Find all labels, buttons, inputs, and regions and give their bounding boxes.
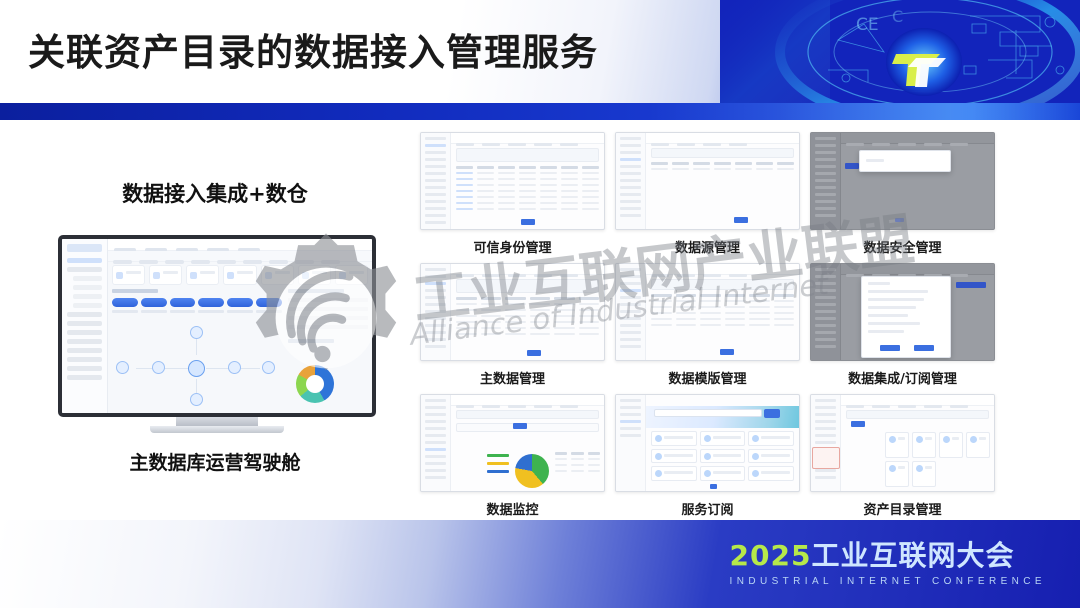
sidebar-item[interactable] bbox=[425, 338, 446, 341]
sidebar-item[interactable] bbox=[620, 434, 641, 437]
topbar-item[interactable] bbox=[898, 143, 916, 146]
sidebar-item[interactable] bbox=[425, 275, 446, 278]
sidebar-item[interactable] bbox=[620, 268, 641, 271]
app-topbar[interactable] bbox=[841, 395, 994, 406]
service-card[interactable] bbox=[748, 466, 794, 481]
sidebar-item[interactable] bbox=[425, 427, 446, 430]
sidebar-item[interactable] bbox=[425, 399, 446, 402]
sidebar-item[interactable] bbox=[67, 339, 102, 344]
stage-pill[interactable] bbox=[256, 298, 282, 307]
sidebar-item[interactable] bbox=[815, 179, 836, 182]
dashboard-stat-cards bbox=[112, 265, 368, 285]
table-header bbox=[651, 162, 794, 165]
sidebar-item[interactable] bbox=[620, 324, 641, 327]
app-sidebar[interactable] bbox=[811, 133, 841, 229]
table-row[interactable] bbox=[456, 196, 599, 198]
sidebar-item[interactable] bbox=[815, 338, 836, 341]
sidebar-item[interactable] bbox=[620, 179, 641, 182]
primary-action-button[interactable] bbox=[845, 163, 859, 169]
table-row[interactable] bbox=[651, 324, 794, 326]
dashboard-topnav[interactable] bbox=[108, 239, 372, 251]
screenshot-thumb-data-monitor[interactable] bbox=[420, 394, 605, 492]
sidebar-item[interactable] bbox=[620, 317, 641, 320]
connector-line bbox=[196, 339, 197, 355]
svg-text:CE: CE bbox=[856, 15, 879, 35]
dashboard-flow-panel bbox=[112, 289, 282, 409]
sidebar-subitem[interactable] bbox=[73, 294, 102, 299]
screenshot-thumb-data-security[interactable] bbox=[810, 132, 995, 230]
sidebar-item[interactable] bbox=[815, 296, 836, 299]
header-divider-shine bbox=[0, 103, 1080, 120]
sidebar-item[interactable] bbox=[425, 158, 446, 161]
app-content bbox=[451, 144, 604, 229]
sidebar-item[interactable] bbox=[67, 357, 102, 362]
sidebar-item[interactable] bbox=[815, 289, 836, 292]
panel-title bbox=[288, 289, 344, 293]
pill-label bbox=[112, 310, 138, 313]
filter-bar[interactable] bbox=[456, 148, 599, 162]
sidebar-item[interactable] bbox=[620, 172, 641, 175]
sidebar-item[interactable] bbox=[67, 348, 102, 353]
tab-item[interactable] bbox=[217, 260, 236, 264]
app-topbar[interactable] bbox=[451, 395, 604, 406]
search-input[interactable] bbox=[654, 409, 762, 417]
stat-card[interactable] bbox=[335, 265, 368, 285]
sidebar-item[interactable] bbox=[815, 158, 836, 161]
tv-stand-neck bbox=[176, 417, 258, 426]
tab-item[interactable] bbox=[269, 260, 288, 264]
sidebar-item[interactable] bbox=[425, 172, 446, 175]
app-sidebar[interactable] bbox=[421, 133, 451, 229]
sidebar-item[interactable] bbox=[425, 289, 446, 292]
tech-graphic: CE C bbox=[720, 0, 1080, 103]
tv-frame bbox=[58, 235, 376, 417]
sidebar-item[interactable] bbox=[425, 406, 446, 409]
pie-chart bbox=[515, 454, 549, 488]
table-row[interactable] bbox=[456, 309, 599, 311]
slide-root: 关联资产目录的数据接入管理服务 bbox=[0, 0, 1080, 608]
primary-action-button[interactable] bbox=[851, 421, 865, 427]
table-row[interactable] bbox=[651, 318, 794, 320]
app-sidebar[interactable] bbox=[616, 395, 646, 491]
table-header bbox=[651, 294, 794, 297]
search-button[interactable] bbox=[764, 409, 780, 418]
table-row[interactable] bbox=[456, 327, 599, 329]
thumb-caption: 服务订阅 bbox=[615, 499, 800, 518]
diagram-node[interactable] bbox=[190, 326, 203, 339]
stage-pill[interactable] bbox=[198, 298, 224, 307]
service-card[interactable] bbox=[651, 466, 697, 481]
asset-card[interactable] bbox=[939, 432, 963, 458]
service-card[interactable] bbox=[748, 431, 794, 446]
sidebar-item[interactable] bbox=[815, 137, 836, 140]
sidebar-item[interactable] bbox=[620, 186, 641, 189]
toolbar[interactable] bbox=[456, 423, 599, 432]
sidebar-subitem[interactable] bbox=[73, 285, 102, 290]
sidebar-item[interactable] bbox=[815, 186, 836, 189]
panel-row bbox=[288, 325, 368, 329]
app-content bbox=[451, 406, 604, 491]
slide-body: 数据接入集成+数仓 bbox=[0, 120, 1080, 520]
sidebar-item[interactable] bbox=[425, 179, 446, 182]
asset-card[interactable] bbox=[966, 432, 990, 458]
sidebar-item[interactable] bbox=[67, 366, 102, 371]
table-row[interactable] bbox=[456, 208, 599, 210]
table-header bbox=[555, 452, 600, 455]
sidebar-item[interactable] bbox=[425, 441, 446, 444]
sidebar-item[interactable] bbox=[425, 221, 446, 224]
modal-dialog[interactable] bbox=[859, 150, 951, 172]
diagram-node-center[interactable] bbox=[188, 360, 205, 377]
table-row[interactable] bbox=[456, 172, 599, 174]
sidebar-item[interactable] bbox=[425, 324, 446, 327]
highlighted-tree-node[interactable] bbox=[812, 447, 840, 469]
service-card[interactable] bbox=[700, 466, 746, 481]
diagram-node[interactable] bbox=[262, 361, 275, 374]
sidebar-item[interactable] bbox=[620, 137, 641, 140]
diagram-node[interactable] bbox=[228, 361, 241, 374]
pagination-button[interactable] bbox=[710, 484, 717, 489]
sidebar-subitem[interactable] bbox=[73, 303, 102, 308]
tab-item[interactable] bbox=[295, 260, 314, 264]
topbar-item[interactable] bbox=[950, 274, 968, 277]
sidebar-item[interactable] bbox=[620, 331, 641, 334]
table-row[interactable] bbox=[456, 184, 599, 186]
table-row[interactable] bbox=[456, 190, 599, 192]
conference-logo-main: 2025工业互联网大会 bbox=[730, 542, 1046, 570]
table-row[interactable] bbox=[651, 306, 794, 308]
topbar-item[interactable] bbox=[924, 143, 942, 146]
table-row[interactable] bbox=[456, 178, 599, 180]
table-header bbox=[456, 166, 599, 169]
sidebar-item[interactable] bbox=[620, 207, 641, 210]
sidebar-item[interactable] bbox=[620, 151, 641, 154]
asset-card[interactable] bbox=[885, 432, 909, 458]
service-card-grid bbox=[651, 431, 794, 481]
app-topbar[interactable] bbox=[841, 133, 994, 144]
table-header bbox=[456, 297, 599, 300]
sidebar-item[interactable] bbox=[815, 214, 836, 217]
grid-cell: 主数据管理 bbox=[420, 263, 605, 387]
sidebar-item[interactable] bbox=[67, 330, 102, 335]
conference-name-cn: 工业互联网大会 bbox=[811, 539, 1014, 572]
tv-screen-dashboard bbox=[62, 239, 372, 413]
asset-card[interactable] bbox=[885, 461, 909, 487]
slide-footer: 2025工业互联网大会 INDUSTRIAL INTERNET CONFEREN… bbox=[0, 520, 1080, 608]
dashboard-right-panel bbox=[288, 289, 368, 409]
sidebar-item[interactable] bbox=[67, 258, 102, 263]
table-row[interactable] bbox=[456, 303, 599, 305]
sidebar-item[interactable] bbox=[425, 434, 446, 437]
table-row[interactable] bbox=[456, 333, 599, 335]
sidebar-item-active[interactable] bbox=[620, 420, 641, 423]
donut-chart bbox=[296, 365, 334, 403]
screenshot-thumb-datasource[interactable] bbox=[615, 132, 800, 230]
sidebar-item-active[interactable] bbox=[620, 289, 641, 292]
screenshot-thumb-data-integration[interactable] bbox=[810, 263, 995, 361]
filter-bar[interactable] bbox=[651, 279, 794, 290]
asset-card[interactable] bbox=[912, 432, 936, 458]
app-topbar[interactable] bbox=[451, 264, 604, 275]
filter-bar[interactable] bbox=[651, 148, 794, 158]
table-row[interactable] bbox=[555, 464, 600, 466]
grid-cell: 数据安全管理 bbox=[810, 132, 995, 256]
sidebar-item[interactable] bbox=[620, 275, 641, 278]
dashboard-logo bbox=[67, 244, 102, 252]
modal-cancel-button[interactable] bbox=[914, 345, 934, 351]
service-card[interactable] bbox=[651, 431, 697, 446]
sidebar-item[interactable] bbox=[815, 303, 836, 306]
sidebar-item[interactable] bbox=[425, 200, 446, 203]
sidebar-item[interactable] bbox=[815, 469, 836, 472]
panel-row bbox=[288, 316, 368, 320]
sidebar-item[interactable] bbox=[67, 375, 102, 380]
sidebar-item[interactable] bbox=[815, 476, 836, 479]
sidebar-subitem[interactable] bbox=[73, 276, 102, 281]
thumb-caption: 数据监控 bbox=[420, 499, 605, 518]
screenshot-thumb-master-data[interactable] bbox=[420, 263, 605, 361]
screenshot-thumb-service-subscription[interactable] bbox=[615, 394, 800, 492]
app-sidebar[interactable] bbox=[421, 264, 451, 360]
sidebar-item[interactable] bbox=[425, 193, 446, 196]
sidebar-item[interactable] bbox=[815, 345, 836, 348]
dashboard-sidebar[interactable] bbox=[62, 239, 108, 413]
sidebar-item[interactable] bbox=[815, 310, 836, 313]
app-sidebar[interactable] bbox=[616, 133, 646, 229]
sidebar-item[interactable] bbox=[620, 345, 641, 348]
topbar-item[interactable] bbox=[846, 143, 864, 146]
sidebar-item[interactable] bbox=[815, 268, 836, 271]
sidebar-item[interactable] bbox=[815, 406, 836, 409]
app-sidebar[interactable] bbox=[811, 395, 841, 491]
sidebar-item[interactable] bbox=[815, 200, 836, 203]
filter-bar[interactable] bbox=[456, 410, 599, 419]
sidebar-item[interactable] bbox=[425, 186, 446, 189]
table-row[interactable] bbox=[456, 202, 599, 204]
grid-cell: 可信身份管理 bbox=[420, 132, 605, 256]
sidebar-item[interactable] bbox=[620, 296, 641, 299]
tv-stand-base bbox=[150, 426, 284, 433]
pagination-button[interactable] bbox=[895, 218, 904, 222]
left-panel-caption: 主数据库运营驾驶舱 bbox=[20, 448, 410, 475]
sidebar-item[interactable] bbox=[425, 420, 446, 423]
stat-card[interactable] bbox=[261, 265, 294, 285]
screenshot-thumb-asset-catalog[interactable] bbox=[810, 394, 995, 492]
sidebar-item[interactable] bbox=[425, 331, 446, 334]
sidebar-item[interactable] bbox=[425, 303, 446, 306]
modal-confirm-button[interactable] bbox=[880, 345, 900, 351]
sidebar-item[interactable] bbox=[620, 303, 641, 306]
grid-cell: 数据集成/订阅管理 bbox=[810, 263, 995, 387]
tab-item[interactable] bbox=[139, 260, 158, 264]
sidebar-item[interactable] bbox=[425, 455, 446, 458]
stat-card[interactable] bbox=[149, 265, 182, 285]
table-row[interactable] bbox=[651, 312, 794, 314]
toolbar-button[interactable] bbox=[956, 282, 986, 288]
table-row[interactable] bbox=[651, 300, 794, 302]
sidebar-item[interactable] bbox=[425, 345, 446, 348]
diagram-node[interactable] bbox=[190, 393, 203, 406]
sidebar-item[interactable] bbox=[815, 427, 836, 430]
topbar-item[interactable] bbox=[872, 143, 890, 146]
sidebar-item[interactable] bbox=[425, 268, 446, 271]
service-card[interactable] bbox=[700, 449, 746, 464]
legend-item bbox=[487, 462, 509, 465]
sidebar-item[interactable] bbox=[620, 144, 641, 147]
sidebar-item[interactable] bbox=[425, 151, 446, 154]
sidebar-item[interactable] bbox=[815, 165, 836, 168]
stat-card[interactable] bbox=[223, 265, 256, 285]
sidebar-item[interactable] bbox=[67, 267, 102, 272]
sidebar-item[interactable] bbox=[815, 420, 836, 423]
sidebar-item[interactable] bbox=[620, 214, 641, 217]
app-content bbox=[646, 275, 799, 360]
sidebar-item[interactable] bbox=[815, 331, 836, 334]
screenshot-thumb-data-template[interactable] bbox=[615, 263, 800, 361]
grid-cell: 资产目录管理 bbox=[810, 394, 995, 518]
slide-header: 关联资产目录的数据接入管理服务 bbox=[0, 0, 1080, 103]
stage-pill[interactable] bbox=[170, 298, 196, 307]
sidebar-item[interactable] bbox=[425, 207, 446, 210]
tab-item[interactable] bbox=[113, 260, 132, 264]
sidebar-item-active[interactable] bbox=[425, 282, 446, 285]
table-row[interactable] bbox=[555, 458, 600, 460]
stat-card[interactable] bbox=[112, 265, 145, 285]
table-row[interactable] bbox=[651, 168, 794, 170]
table-row[interactable] bbox=[456, 321, 599, 323]
sidebar-item[interactable] bbox=[425, 165, 446, 168]
stage-pill[interactable] bbox=[112, 298, 138, 307]
sidebar-item-active[interactable] bbox=[425, 144, 446, 147]
sidebar-item[interactable] bbox=[815, 144, 836, 147]
tab-item[interactable] bbox=[243, 260, 262, 264]
tab-item[interactable] bbox=[321, 260, 340, 264]
sidebar-item[interactable] bbox=[425, 476, 446, 479]
sidebar-item[interactable] bbox=[620, 427, 641, 430]
legend-item bbox=[487, 454, 509, 457]
sidebar-item[interactable] bbox=[425, 317, 446, 320]
pagination-button[interactable] bbox=[734, 217, 748, 223]
pagination-button[interactable] bbox=[720, 349, 734, 355]
thumb-caption: 资产目录管理 bbox=[810, 499, 995, 518]
service-card[interactable] bbox=[700, 431, 746, 446]
sidebar-item[interactable] bbox=[425, 214, 446, 217]
topbar-item[interactable] bbox=[950, 143, 968, 146]
sidebar-item[interactable] bbox=[425, 310, 446, 313]
sidebar-item[interactable] bbox=[620, 399, 641, 402]
sidebar-item[interactable] bbox=[620, 282, 641, 285]
stat-card[interactable] bbox=[298, 265, 331, 285]
sidebar-item[interactable] bbox=[620, 413, 641, 416]
node-diagram bbox=[112, 323, 282, 405]
sidebar-item-active[interactable] bbox=[425, 448, 446, 451]
dashboard-tabs[interactable] bbox=[108, 251, 372, 262]
app-sidebar[interactable] bbox=[421, 395, 451, 491]
pill-label bbox=[227, 310, 253, 313]
pill-label bbox=[141, 310, 167, 313]
sidebar-item[interactable] bbox=[620, 165, 641, 168]
pagination-button[interactable] bbox=[527, 350, 541, 356]
app-sidebar[interactable] bbox=[616, 264, 646, 360]
svg-text:C: C bbox=[892, 7, 903, 26]
stage-pill[interactable] bbox=[227, 298, 253, 307]
service-card[interactable] bbox=[651, 449, 697, 464]
thumb-caption: 数据模版管理 bbox=[615, 368, 800, 387]
sidebar-item[interactable] bbox=[815, 172, 836, 175]
asset-card[interactable] bbox=[912, 461, 936, 487]
service-card[interactable] bbox=[748, 449, 794, 464]
sidebar-item[interactable] bbox=[815, 399, 836, 402]
pill-label bbox=[170, 310, 196, 313]
stat-card[interactable] bbox=[186, 265, 219, 285]
pagination-button[interactable] bbox=[521, 219, 535, 225]
table-row[interactable] bbox=[456, 315, 599, 317]
sidebar-item[interactable] bbox=[620, 406, 641, 409]
screenshot-grid: 可信身份管理 数据源 bbox=[420, 132, 1020, 524]
sidebar-item[interactable] bbox=[815, 324, 836, 327]
app-topbar[interactable] bbox=[646, 264, 799, 275]
tech-circuit-icon: CE C bbox=[720, 0, 1080, 103]
sidebar-item[interactable] bbox=[815, 282, 836, 285]
tab-item[interactable] bbox=[165, 260, 184, 264]
diagram-node[interactable] bbox=[152, 361, 165, 374]
sidebar-item[interactable] bbox=[620, 200, 641, 203]
sidebar-item[interactable] bbox=[67, 312, 102, 317]
diagram-node[interactable] bbox=[116, 361, 129, 374]
sidebar-item[interactable] bbox=[815, 207, 836, 210]
filter-bar[interactable] bbox=[846, 410, 989, 419]
sidebar-item[interactable] bbox=[815, 151, 836, 154]
screenshot-thumb-trusted-identity[interactable] bbox=[420, 132, 605, 230]
sidebar-item[interactable] bbox=[425, 469, 446, 472]
stage-pill[interactable] bbox=[141, 298, 167, 307]
asset-card-grid bbox=[885, 432, 990, 487]
table-row[interactable] bbox=[555, 470, 600, 472]
sidebar-item[interactable] bbox=[620, 193, 641, 196]
app-sidebar[interactable] bbox=[811, 264, 841, 360]
sidebar-item[interactable] bbox=[620, 310, 641, 313]
panel-title bbox=[288, 339, 334, 343]
sidebar-item[interactable] bbox=[815, 434, 836, 437]
form-modal-dialog[interactable] bbox=[861, 276, 951, 358]
sidebar-item[interactable] bbox=[815, 413, 836, 416]
tab-item[interactable] bbox=[191, 260, 210, 264]
pill-label bbox=[198, 310, 224, 313]
thumb-caption: 数据集成/订阅管理 bbox=[810, 368, 995, 387]
panel-title bbox=[112, 289, 158, 293]
conference-name-en: INDUSTRIAL INTERNET CONFERENCE bbox=[730, 576, 1046, 587]
sidebar-item[interactable] bbox=[425, 413, 446, 416]
sidebar-item[interactable] bbox=[425, 137, 446, 140]
grid-cell: 数据监控 bbox=[420, 394, 605, 518]
filter-bar[interactable] bbox=[456, 279, 599, 293]
sidebar-item[interactable] bbox=[425, 462, 446, 465]
sidebar-item[interactable] bbox=[815, 193, 836, 196]
app-topbar[interactable] bbox=[451, 133, 604, 144]
sidebar-item[interactable] bbox=[425, 296, 446, 299]
app-content bbox=[841, 406, 994, 491]
sidebar-item-active[interactable] bbox=[620, 158, 641, 161]
sidebar-item[interactable] bbox=[815, 317, 836, 320]
sidebar-item[interactable] bbox=[815, 275, 836, 278]
thumb-caption: 主数据管理 bbox=[420, 368, 605, 387]
sidebar-item[interactable] bbox=[67, 321, 102, 326]
primary-action-button[interactable] bbox=[513, 423, 527, 429]
sidebar-item[interactable] bbox=[620, 338, 641, 341]
app-topbar[interactable] bbox=[646, 133, 799, 144]
app-topbar[interactable] bbox=[841, 264, 994, 275]
sidebar-item[interactable] bbox=[815, 441, 836, 444]
